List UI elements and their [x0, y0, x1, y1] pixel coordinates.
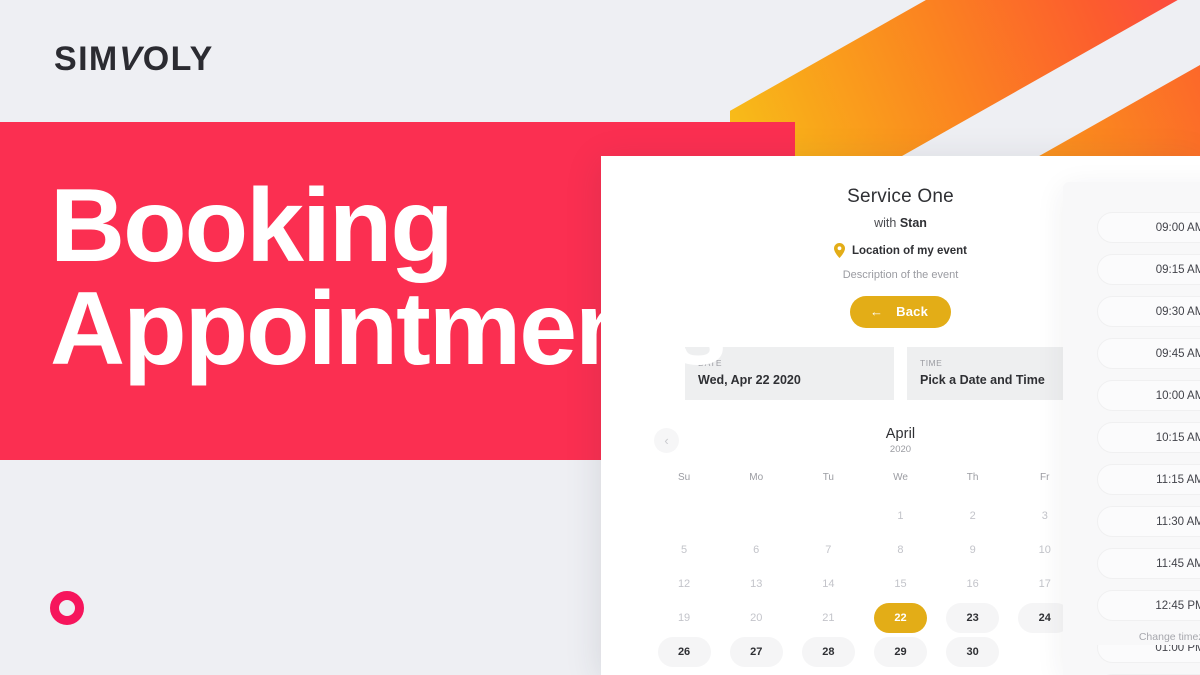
- calendar-weekday-th: Th: [937, 472, 1009, 497]
- calendar-month-label: April: [679, 426, 1122, 442]
- time-slot-09-00-am[interactable]: 09:00 AM: [1097, 212, 1200, 243]
- calendar-day-30[interactable]: 30: [946, 637, 999, 667]
- time-slot-10-00-am[interactable]: 10:00 AM: [1097, 380, 1200, 411]
- time-slot-09-15-am[interactable]: 09:15 AM: [1097, 254, 1200, 285]
- calendar-day-5: 5: [658, 535, 711, 565]
- calendar-day-cell: 13: [720, 569, 792, 599]
- arrow-left-icon: ←: [870, 304, 883, 319]
- calendar-year-label: 2020: [679, 444, 1122, 455]
- calendar-weekday-we: We: [864, 472, 936, 497]
- calendar-day-cell: 2: [937, 501, 1009, 531]
- time-slot-11-30-am[interactable]: 11:30 AM: [1097, 506, 1200, 537]
- map-pin-icon: [834, 243, 845, 258]
- calendar-day-cell: 19: [648, 603, 720, 633]
- page-title: Booking Appointments: [50, 176, 810, 380]
- time-slots-panel: 09:00 AM09:15 AM09:30 AM09:45 AM10:00 AM…: [1063, 182, 1200, 675]
- calendar-day-cell: 22: [864, 603, 936, 633]
- hero-line-2: Appointments: [50, 279, 810, 380]
- logo-part-one: SIM: [54, 40, 119, 78]
- calendar-day-16: 16: [946, 569, 999, 599]
- calendar-day-21: 21: [802, 603, 855, 633]
- calendar-empty-cell: [720, 501, 792, 531]
- calendar-day-cell: 29: [864, 637, 936, 667]
- calendar-day-1: 1: [874, 501, 927, 531]
- calendar-day-cell: 30: [937, 637, 1009, 667]
- calendar-day-15: 15: [874, 569, 927, 599]
- calendar-day-cell: 28: [792, 637, 864, 667]
- calendar-day-12: 12: [658, 569, 711, 599]
- calendar-month-year: April 2020: [679, 426, 1122, 455]
- calendar-day-14: 14: [802, 569, 855, 599]
- calendar-empty-cell: [648, 501, 720, 531]
- calendar-weekday-su: Su: [648, 472, 720, 497]
- time-slot-10-15-am[interactable]: 10:15 AM: [1097, 422, 1200, 453]
- host-name: Stan: [900, 216, 927, 230]
- calendar-day-cell: 1: [864, 501, 936, 531]
- calendar-day-cell: 7: [792, 535, 864, 565]
- time-slot-09-45-am[interactable]: 09:45 AM: [1097, 338, 1200, 369]
- calendar-day-29[interactable]: 29: [874, 637, 927, 667]
- calendar-day-6: 6: [730, 535, 783, 565]
- prev-month-button[interactable]: ‹: [654, 428, 679, 453]
- calendar-day-cell: 6: [720, 535, 792, 565]
- with-prefix: with: [874, 216, 896, 230]
- back-button[interactable]: ← Back: [850, 296, 951, 328]
- calendar-day-7: 7: [802, 535, 855, 565]
- time-slot-11-15-am[interactable]: 11:15 AM: [1097, 464, 1200, 495]
- calendar-day-cell: 5: [648, 535, 720, 565]
- calendar-day-cell: 9: [937, 535, 1009, 565]
- calendar-day-cell: 26: [648, 637, 720, 667]
- logo-part-two: OLY: [143, 40, 214, 78]
- calendar-day-2: 2: [946, 501, 999, 531]
- time-slot-list: 09:00 AM09:15 AM09:30 AM09:45 AM10:00 AM…: [1097, 212, 1200, 675]
- calendar-weekday-mo: Mo: [720, 472, 792, 497]
- calendar-day-cell: 12: [648, 569, 720, 599]
- chevron-left-icon: ‹: [664, 433, 668, 448]
- calendar-day-cell: 27: [720, 637, 792, 667]
- calendar-day-cell: 8: [864, 535, 936, 565]
- hero-line-1: Booking: [50, 168, 452, 284]
- calendar-day-27[interactable]: 27: [730, 637, 783, 667]
- ring-logo-mark: [50, 591, 84, 625]
- calendar-day-23[interactable]: 23: [946, 603, 999, 633]
- time-slot-11-45-am[interactable]: 11:45 AM: [1097, 548, 1200, 579]
- calendar-day-cell: 15: [864, 569, 936, 599]
- calendar-day-cell: 16: [937, 569, 1009, 599]
- calendar-day-cell: 23: [937, 603, 1009, 633]
- time-slot-09-30-am[interactable]: 09:30 AM: [1097, 296, 1200, 327]
- calendar-day-cell: 20: [720, 603, 792, 633]
- calendar-day-9: 9: [946, 535, 999, 565]
- calendar-empty-cell: [792, 501, 864, 531]
- location-label: Location of my event: [852, 245, 967, 257]
- calendar-day-22[interactable]: 22: [874, 603, 927, 633]
- back-button-label: Back: [896, 304, 928, 319]
- simvoly-logo: SIMVOLY: [54, 42, 214, 76]
- calendar-day-26[interactable]: 26: [658, 637, 711, 667]
- presentation-slide: SIMVOLY Booking Appointments Service One…: [0, 0, 1200, 675]
- calendar-day-cell: 21: [792, 603, 864, 633]
- calendar-day-cell: 14: [792, 569, 864, 599]
- calendar-day-28[interactable]: 28: [802, 637, 855, 667]
- calendar-day-19: 19: [658, 603, 711, 633]
- calendar-day-13: 13: [730, 569, 783, 599]
- calendar-day-8: 8: [874, 535, 927, 565]
- calendar-day-20: 20: [730, 603, 783, 633]
- change-timezone-link[interactable]: Change timezone: [1097, 625, 1200, 645]
- calendar-weekday-tu: Tu: [792, 472, 864, 497]
- time-slot-12-45-pm[interactable]: 12:45 PM: [1097, 590, 1200, 621]
